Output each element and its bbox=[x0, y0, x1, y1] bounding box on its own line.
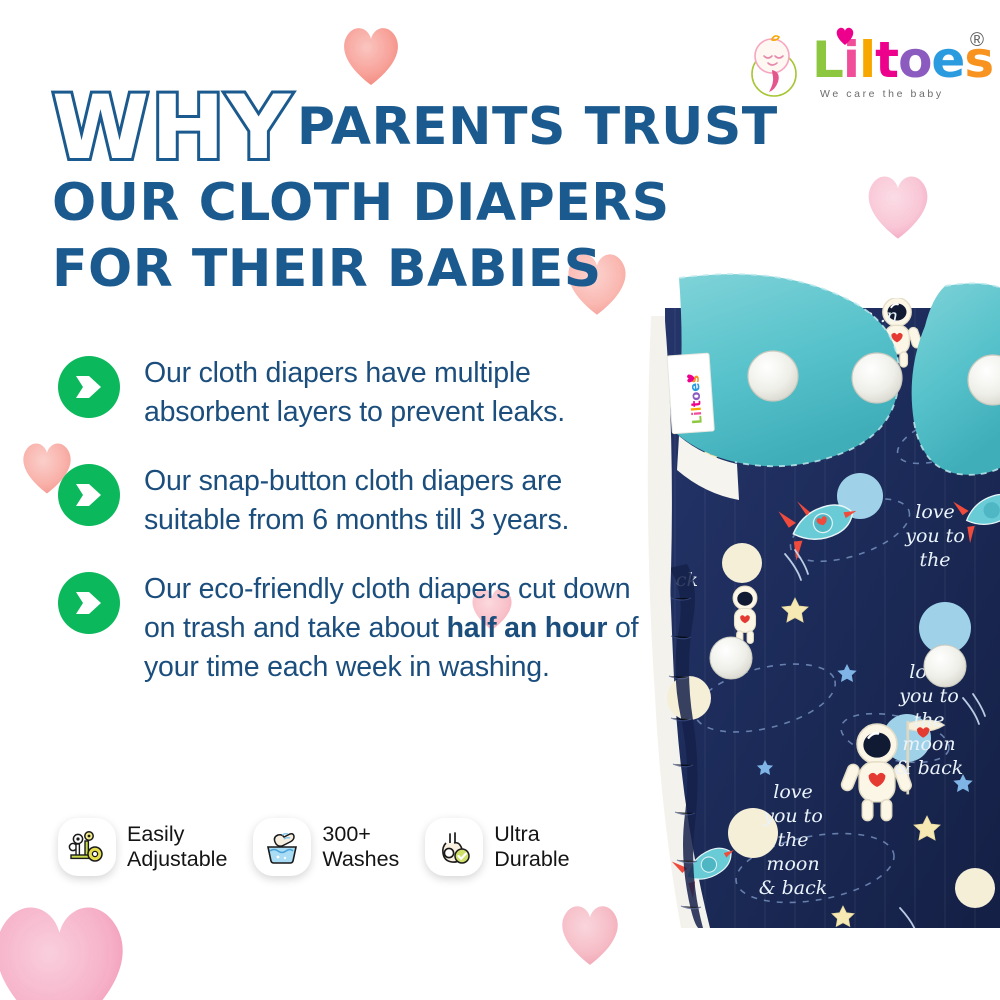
feature-label: Ultra Durable bbox=[494, 822, 569, 872]
feature-badge-1: Easily Adjustable bbox=[58, 818, 227, 876]
feature-badges: Easily Adjustable300+ WashesUltra Durabl… bbox=[58, 818, 596, 876]
logo-letter: t bbox=[875, 34, 898, 86]
svg-text:you to: you to bbox=[898, 685, 959, 707]
brand-tagline: We care the baby bbox=[820, 88, 944, 100]
hand-wash-basin-icon bbox=[253, 818, 311, 876]
svg-text:the: the bbox=[861, 281, 892, 303]
benefit-text: Our eco-friendly cloth diapers cut down … bbox=[144, 568, 658, 687]
benefit-item-3: Our eco-friendly cloth diapers cut down … bbox=[58, 568, 658, 687]
feature-label: Easily Adjustable bbox=[127, 822, 227, 872]
headline-line3: FOR THEIR BABIES bbox=[52, 236, 692, 302]
benefit-text: Our cloth diapers have multiple absorben… bbox=[144, 352, 658, 432]
headline-why: WHY bbox=[52, 86, 292, 170]
promo-banner: Liltoes ® We care the baby WHY PARENTS T… bbox=[0, 0, 1000, 1000]
feature-badge-3: Ultra Durable bbox=[425, 818, 569, 876]
svg-text:the: the bbox=[919, 549, 950, 571]
svg-text:& back: & back bbox=[759, 877, 828, 899]
benefits-list: Our cloth diapers have multiple absorben… bbox=[58, 352, 658, 715]
heart-bottom-left bbox=[0, 898, 137, 1000]
headline-line1: PARENTS TRUST bbox=[297, 94, 778, 160]
svg-text:& back: & back bbox=[895, 757, 964, 779]
chevron-right-icon bbox=[58, 572, 120, 634]
registered-mark: ® bbox=[970, 30, 984, 52]
chevron-right-icon bbox=[58, 356, 120, 418]
svg-text:moon: moon bbox=[766, 853, 819, 875]
logo-letter: o bbox=[898, 34, 931, 86]
benefit-item-2: Our snap-button cloth diapers are suitab… bbox=[58, 460, 658, 540]
heart-bottom-center bbox=[556, 902, 624, 968]
gears-adjustable-icon bbox=[58, 818, 116, 876]
svg-text:love: love bbox=[773, 781, 813, 803]
page-title: WHY PARENTS TRUST OUR CLOTH DIAPERS FOR … bbox=[52, 86, 692, 302]
feature-badge-2: 300+ Washes bbox=[253, 818, 399, 876]
svg-text:the: the bbox=[913, 709, 944, 731]
baby-face-icon bbox=[742, 32, 806, 100]
feature-label: 300+ Washes bbox=[322, 822, 399, 872]
benefit-text: Our snap-button cloth diapers are suitab… bbox=[144, 460, 658, 540]
brand-logo: Liltoes ® We care the baby bbox=[742, 28, 982, 106]
heart-top-left bbox=[338, 24, 404, 88]
svg-text:you to: you to bbox=[904, 525, 965, 547]
svg-text:you to: you to bbox=[762, 805, 823, 827]
svg-text:love: love bbox=[915, 501, 955, 523]
heart-top-right bbox=[862, 172, 934, 242]
svg-text:the: the bbox=[777, 829, 808, 851]
benefit-item-1: Our cloth diapers have multiple absorben… bbox=[58, 352, 658, 432]
chevron-right-icon bbox=[58, 464, 120, 526]
svg-text:moon: moon bbox=[902, 733, 955, 755]
logo-letter: l bbox=[859, 34, 875, 86]
heart-icon bbox=[834, 26, 856, 46]
logo-letter: e bbox=[931, 34, 964, 86]
product-image-cloth-diaper: loveyou to the loveyou to themoon& back … bbox=[645, 268, 1000, 928]
benefit-emphasis: half an hour bbox=[447, 612, 608, 644]
headline-line2: OUR CLOTH DIAPERS bbox=[52, 170, 692, 236]
ok-hand-check-icon bbox=[425, 818, 483, 876]
